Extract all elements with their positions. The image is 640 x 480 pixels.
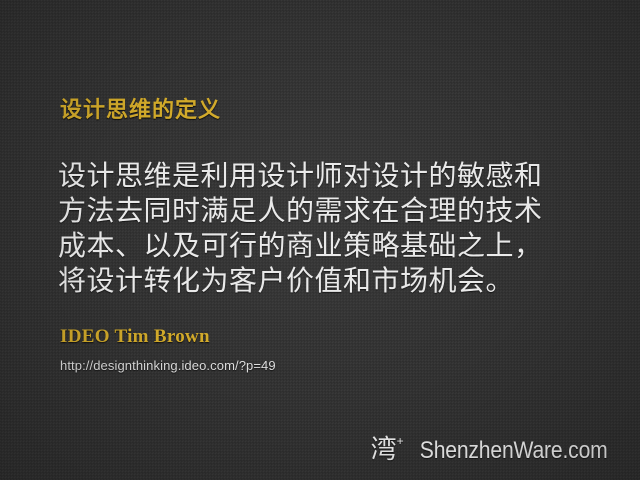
body-line: 方法去同时满足人的需求在合理的技术: [58, 193, 578, 228]
logo-cjk-mark: 湾: [371, 436, 397, 462]
attribution-text: IDEO Tim Brown: [60, 325, 210, 349]
slide-canvas: 设计思维的定义 设计思维是利用设计师对设计的敏感和 方法去同时满足人的需求在合理…: [0, 0, 640, 480]
body-line: 将设计转化为客户价值和市场机会。: [58, 263, 578, 298]
plus-icon: +: [397, 435, 404, 447]
brand-logo: 湾 + ShenzhenWare.com: [371, 436, 620, 463]
body-text-block: 设计思维是利用设计师对设计的敏感和 方法去同时满足人的需求在合理的技术 成本、以…: [58, 158, 578, 298]
page-title: 设计思维的定义: [60, 96, 221, 124]
logo-wordmark: ShenzhenWare.com: [419, 439, 607, 463]
body-line: 设计思维是利用设计师对设计的敏感和: [58, 158, 578, 193]
source-url-link[interactable]: http://designthinking.ideo.com/?p=49: [60, 357, 276, 375]
body-line: 成本、以及可行的商业策略基础之上，: [58, 228, 578, 263]
